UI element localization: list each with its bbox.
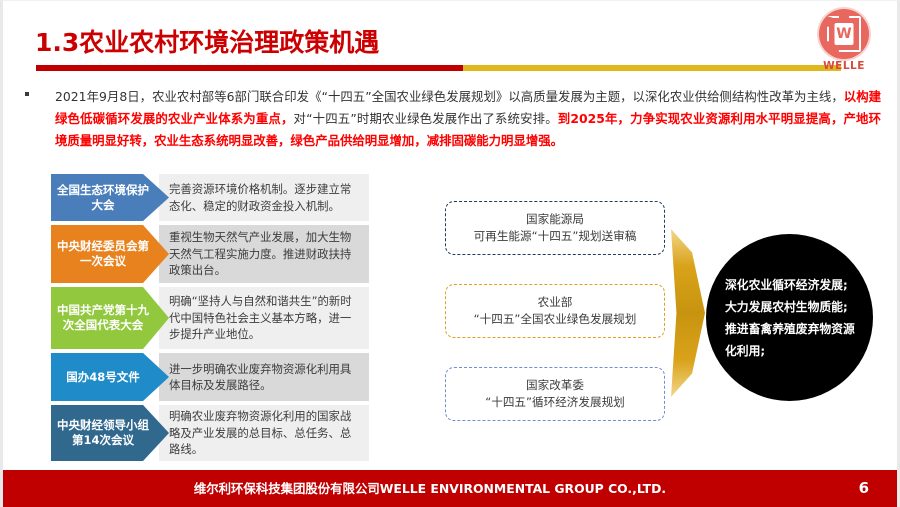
paragraph-segment: 2021年9月8日，农业农村部等6部门联合印发《“十四五”全国农业绿色发展规划》… <box>55 89 844 104</box>
policy-row: 国办48号文件进一步明确农业废弃物资源化利用具体目标及发展路径。 <box>51 353 369 401</box>
policy-milestones-list: 全国生态环境保护大会完善资源环境价格机制。逐步建立常态化、稳定的财政资金投入机制… <box>51 174 369 465</box>
outcome-text: 深化农业循环经济发展;大力发展农村生物质能;推进畜禽养殖废弃物资源化利用; <box>706 274 855 362</box>
outcome-line: 深化农业循环经济发展; <box>725 274 855 296</box>
slide: 1.3农业农村环境治理政策机遇 W WELLE 2021年9月8日，农业农村部等… <box>0 0 900 507</box>
intro-paragraph-text: 2021年9月8日，农业农村部等6部门联合印发《“十四五”全国农业绿色发展规划》… <box>55 86 881 152</box>
plan-document-box: 国家改革委“十四五”循环经济发展规划 <box>445 367 665 421</box>
policy-row: 中央财经领导小组第14次会议明确农业废弃物资源化利用的国家战略及产业发展的总目标… <box>51 405 369 461</box>
page-number: 6 <box>859 470 869 507</box>
policy-arrow-label: 中国共产党第十九次全国代表大会 <box>51 287 169 349</box>
plan-document-box: 农业部“十四五”全国农业绿色发展规划 <box>445 284 665 338</box>
divider-gold-segment <box>463 65 841 71</box>
outcome-line: 大力发展农村生物质能; <box>725 296 855 318</box>
page-title: 1.3农业农村环境治理政策机遇 <box>35 23 379 59</box>
logo-letter-w: W <box>835 23 854 45</box>
policy-description: 进一步明确农业废弃物资源化利用具体目标及发展路径。 <box>159 353 369 401</box>
plan-box-title: 国家能源局 <box>452 211 658 228</box>
title-divider-rule <box>36 65 841 71</box>
bullet-marker-icon <box>25 92 29 96</box>
welle-logo: W WELLE <box>813 9 875 72</box>
outcome-line: 推进畜禽养殖废弃物资源 <box>725 318 855 340</box>
policy-description: 明确农业废弃物资源化利用的国家战略及产业发展的总目标、总任务、总路线。 <box>159 405 369 461</box>
plan-box-title: 农业部 <box>452 294 658 311</box>
plan-box-subtitle: “十四五”全国农业绿色发展规划 <box>452 311 658 328</box>
divider-red-segment <box>36 65 463 71</box>
policy-arrow-label: 全国生态环境保护大会 <box>51 174 169 221</box>
plan-box-subtitle: 可再生能源“十四五”规划送审稿 <box>452 228 658 245</box>
policy-row: 全国生态环境保护大会完善资源环境价格机制。逐步建立常态化、稳定的财政资金投入机制… <box>51 174 369 221</box>
policy-arrow-label: 中央财经委员会第一次会议 <box>51 225 169 283</box>
policy-row: 中央财经委员会第一次会议重视生物天然气产业发展，加大生物天然气工程实施力度。推进… <box>51 225 369 283</box>
policy-arrow-label: 国办48号文件 <box>51 353 169 401</box>
plan-documents-list: 国家能源局可再生能源“十四五”规划送审稿农业部“十四五”全国农业绿色发展规划国家… <box>445 201 665 421</box>
policy-arrow-label: 中央财经领导小组第14次会议 <box>51 405 169 461</box>
policy-description: 明确“坚持人与自然和谐共生”的新时代中国特色社会主义基本方略，进一步提升产业地位… <box>159 287 369 349</box>
paragraph-segment: 对“十四五”时期农业绿色发展作出了系统安排。 <box>294 111 558 126</box>
policy-description: 完善资源环境价格机制。逐步建立常态化、稳定的财政资金投入机制。 <box>159 174 369 221</box>
policy-row: 中国共产党第十九次全国代表大会明确“坚持人与自然和谐共生”的新时代中国特色社会主… <box>51 287 369 349</box>
policy-description: 重视生物天然气产业发展，加大生物天然气工程实施力度。推进财政扶持政策出台。 <box>159 225 369 283</box>
gold-arrow-icon <box>671 229 705 397</box>
outcome-line: 化利用; <box>725 340 855 362</box>
footer-bar: 维尔利环保科技集团股份有限公司WELLE ENVIRONMENTAL GROUP… <box>3 470 897 507</box>
intro-paragraph: 2021年9月8日，农业农村部等6部门联合印发《“十四五”全国农业绿色发展规划》… <box>25 86 881 152</box>
logo-circle-icon: W <box>819 9 869 59</box>
plan-box-title: 国家改革委 <box>452 377 658 394</box>
outcome-circle: 深化农业循环经济发展;大力发展农村生物质能;推进畜禽养殖废弃物资源化利用; <box>706 234 873 401</box>
logo-wordmark: WELLE <box>813 60 875 72</box>
footer-company-name: 维尔利环保科技集团股份有限公司WELLE ENVIRONMENTAL GROUP… <box>3 470 897 507</box>
plan-box-subtitle: “十四五”循环经济发展规划 <box>452 394 658 411</box>
plan-document-box: 国家能源局可再生能源“十四五”规划送审稿 <box>445 201 665 255</box>
